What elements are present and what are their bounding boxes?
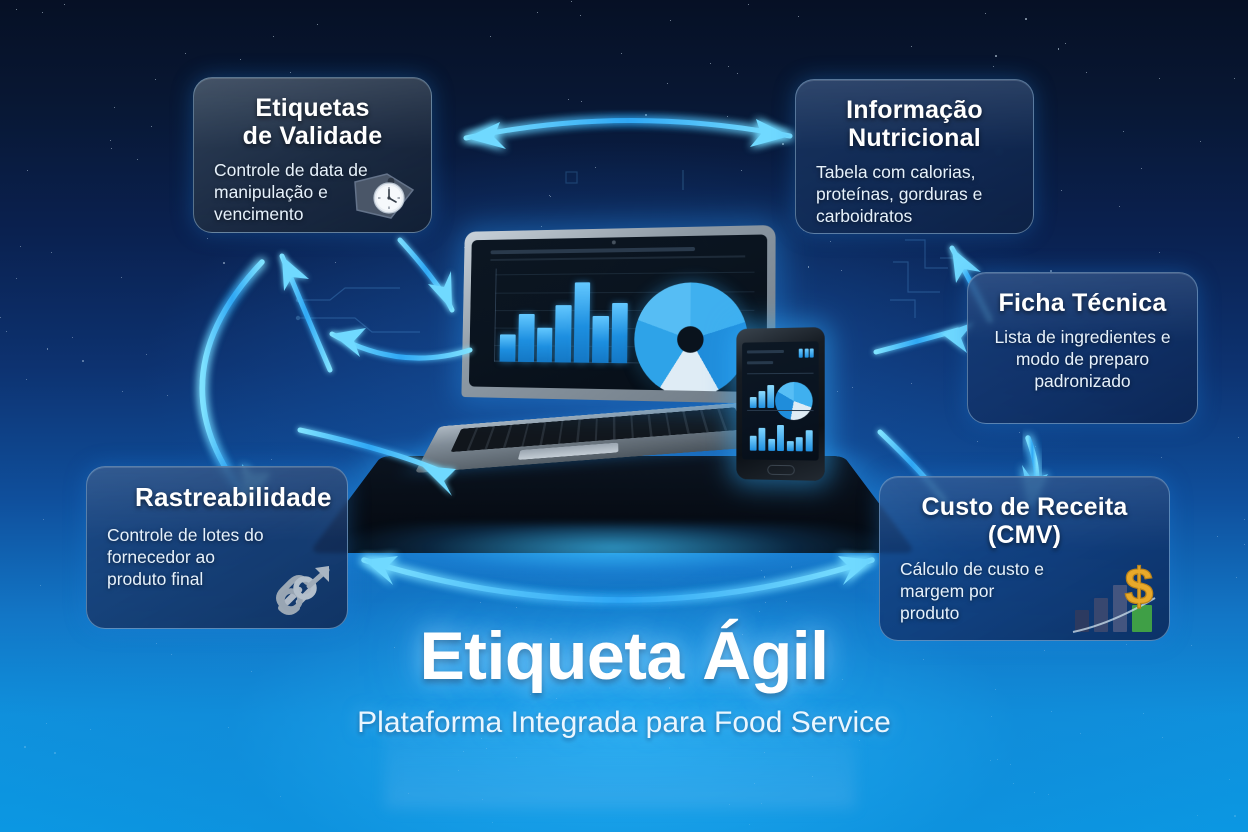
card-title-cmv: Custo de Receita(CMV) bbox=[900, 493, 1149, 549]
card-body-cmv: Cálculo de custo e margem por produto bbox=[900, 558, 1054, 624]
tag-clock-icon bbox=[347, 168, 419, 224]
laptop-bar-6 bbox=[592, 316, 609, 364]
phone-bar-2 bbox=[759, 428, 766, 450]
laptop-bar-chart bbox=[500, 275, 628, 363]
phone-bar-7 bbox=[806, 431, 813, 451]
screen-header-bar bbox=[491, 247, 695, 254]
page-subtitle: Plataforma Integrada para Food Service bbox=[0, 706, 1248, 740]
phone-bar-6 bbox=[796, 437, 803, 451]
screen-divider bbox=[491, 255, 745, 261]
card-informacao-nutricional[interactable]: InformaçãoNutricional Tabela com caloria… bbox=[795, 79, 1034, 234]
laptop-bar-1 bbox=[500, 334, 516, 362]
laptop-bar-3 bbox=[536, 328, 552, 363]
arrow-nutricional-to-validade bbox=[466, 120, 790, 138]
smartphone bbox=[736, 327, 824, 481]
laptop-bar-5 bbox=[573, 282, 590, 363]
chain-link-arrow-icon bbox=[269, 562, 333, 620]
smartphone-pie-chart bbox=[775, 382, 813, 420]
laptop-pie-chart bbox=[633, 282, 748, 393]
infographic-canvas: Etiquetasde Validade Controle de data de… bbox=[0, 0, 1248, 832]
phone-bar-3 bbox=[768, 439, 775, 451]
card-title-validade: Etiquetasde Validade bbox=[214, 94, 411, 150]
title-block: Etiqueta Ágil Plataforma Integrada para … bbox=[0, 622, 1248, 740]
card-rastreabilidade[interactable]: Rastreabilidade Controle de lotes do for… bbox=[86, 466, 348, 629]
smartphone-mini-bars bbox=[750, 382, 774, 408]
svg-text:$: $ bbox=[1125, 558, 1154, 616]
card-ficha-tecnica[interactable]: Ficha Técnica Lista de ingredientes e mo… bbox=[967, 272, 1198, 424]
page-title: Etiqueta Ágil bbox=[0, 622, 1248, 690]
card-custo-de-receita-cmv[interactable]: Custo de Receita(CMV) Cálculo de custo e… bbox=[879, 476, 1170, 641]
card-title-ficha: Ficha Técnica bbox=[988, 289, 1177, 317]
chart-y-axis bbox=[494, 269, 497, 362]
laptop-screen bbox=[469, 234, 767, 392]
laptop-lid bbox=[461, 225, 775, 404]
laptop-bar-7 bbox=[611, 303, 628, 363]
phone-bar-5 bbox=[787, 441, 794, 450]
device-cluster-illustration bbox=[330, 228, 890, 628]
phone-mini-bar-2 bbox=[758, 391, 765, 408]
card-body-ficha: Lista de ingredientes e modo de preparo … bbox=[988, 326, 1177, 392]
laptop bbox=[425, 228, 785, 488]
home-button bbox=[767, 465, 795, 476]
phone-mini-bar-1 bbox=[750, 397, 757, 408]
card-body-nutricional: Tabela com calorias, proteínas, gorduras… bbox=[816, 161, 1013, 227]
smartphone-screen bbox=[742, 341, 819, 460]
card-body-rastreabilidade: Controle de lotes do fornecedor ao produ… bbox=[107, 524, 265, 590]
card-etiquetas-de-validade[interactable]: Etiquetasde Validade Controle de data de… bbox=[193, 77, 432, 233]
laptop-bar-4 bbox=[555, 305, 572, 363]
laptop-bar-2 bbox=[518, 314, 534, 362]
arrow-validade-to-rastreabilidade bbox=[202, 262, 262, 500]
desk-glow bbox=[340, 524, 885, 584]
arrow-center-up-to-validade bbox=[282, 256, 330, 370]
phone-mini-bar-3 bbox=[767, 385, 774, 408]
phone-bar-4 bbox=[777, 425, 784, 451]
phone-bar-1 bbox=[750, 436, 757, 451]
card-title-rastreabilidade: Rastreabilidade bbox=[107, 483, 327, 512]
arrowhead-group-top bbox=[466, 119, 790, 149]
smartphone-bar-chart bbox=[750, 420, 813, 451]
webcam-icon bbox=[612, 240, 616, 244]
card-title-nutricional: InformaçãoNutricional bbox=[816, 96, 1013, 152]
